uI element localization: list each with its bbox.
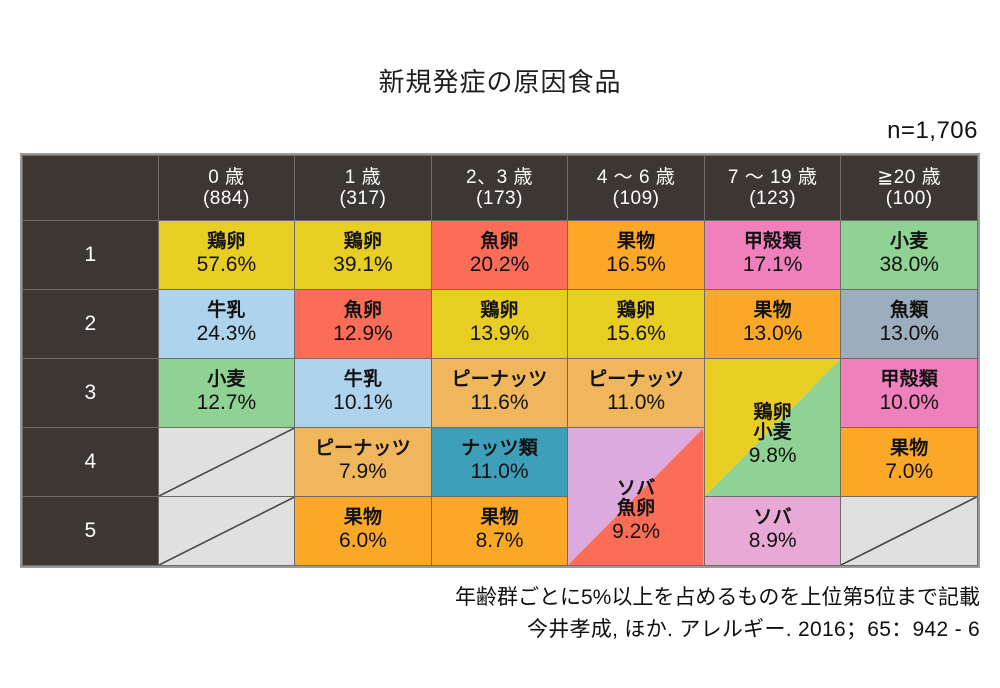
diagonal-strike-icon [159, 497, 295, 565]
cell-r2-age7-19: 果物 13.0% [704, 290, 841, 359]
causative-food-table: 0 歳 (884) 1 歳 (317) 2、3 歳 (173) 4 ～ 6 歳 … [22, 155, 978, 566]
cell-r2-age0: 牛乳 24.3% [158, 290, 295, 359]
cell-food: 果物 [705, 301, 841, 322]
cell-food: 甲殻類 [841, 370, 977, 391]
cell-r1-age0: 鶏卵 57.6% [158, 221, 295, 290]
cell-percent: 16.5% [568, 253, 704, 277]
cell-r2-age20plus: 魚類 13.0% [841, 290, 978, 359]
cell-r1-age2-3: 魚卵 20.2% [431, 221, 568, 290]
column-header-age20plus-line1: ≧20 歳 [841, 167, 977, 188]
cell-percent: 8.7% [432, 529, 568, 553]
cell-food: 果物 [841, 439, 977, 460]
cell-percent: 13.0% [705, 322, 841, 346]
cell-percent: 17.1% [705, 253, 841, 277]
cell-r1-age4-6: 果物 16.5% [568, 221, 705, 290]
cell-r4-age0-empty [158, 428, 295, 497]
table-header-row: 0 歳 (884) 1 歳 (317) 2、3 歳 (173) 4 ～ 6 歳 … [23, 156, 978, 221]
rank-label-1: 1 [23, 221, 159, 290]
cell-food: ピーナッツ [295, 439, 431, 460]
column-header-age20plus: ≧20 歳 (100) [841, 156, 978, 221]
cell-percent: 11.0% [432, 460, 568, 484]
cell-r2-age2-3: 鶏卵 13.9% [431, 290, 568, 359]
cell-percent: 39.1% [295, 253, 431, 277]
cell-merged-age4-6-rank4-5: ソバ 魚卵 9.2% [568, 428, 705, 566]
cell-percent: 7.0% [841, 460, 977, 484]
cell-percent: 11.0% [568, 391, 704, 415]
footnote-line-2: 今井孝成, ほか. アレルギー. 2016；65：942 - 6 [0, 614, 980, 646]
cell-r5-age2-3: 果物 8.7% [431, 497, 568, 566]
page-title: 新規発症の原因食品 [0, 0, 1000, 99]
cell-percent: 13.0% [841, 322, 977, 346]
cell-r5-age1: 果物 6.0% [295, 497, 432, 566]
cell-percent: 12.7% [159, 391, 295, 415]
rank-label-4: 4 [23, 428, 159, 497]
cell-r1-age1: 鶏卵 39.1% [295, 221, 432, 290]
cell-percent: 13.9% [432, 322, 568, 346]
table-row: 1 鶏卵 57.6% 鶏卵 39.1% 魚卵 20.2% [23, 221, 978, 290]
cell-r4-age20plus: 果物 7.0% [841, 428, 978, 497]
column-header-age4-6-line2: (109) [568, 188, 704, 209]
cell-food: 鶏卵 [159, 232, 295, 253]
data-table-container: 0 歳 (884) 1 歳 (317) 2、3 歳 (173) 4 ～ 6 歳 … [20, 153, 980, 568]
cell-percent: 38.0% [841, 253, 977, 277]
cell-percent: 10.0% [841, 391, 977, 415]
cell-percent: 9.8% [705, 444, 841, 468]
cell-food: 牛乳 [159, 301, 295, 322]
cell-food: ナッツ類 [432, 439, 568, 460]
column-header-age2-3-line2: (173) [432, 188, 568, 209]
sample-size-label: n=1,706 [0, 99, 1000, 145]
cell-food: 小麦 [159, 370, 295, 391]
cell-food: ソバ [705, 508, 841, 529]
diagonal-strike-icon [159, 428, 295, 496]
table-body: 0 歳 (884) 1 歳 (317) 2、3 歳 (173) 4 ～ 6 歳 … [23, 156, 978, 566]
column-header-age0: 0 歳 (884) [158, 156, 295, 221]
table-row: 3 小麦 12.7% 牛乳 10.1% ピーナッツ 11 [23, 359, 978, 428]
cell-r4-age2-3: ナッツ類 11.0% [431, 428, 568, 497]
cell-r3-age20plus: 甲殻類 10.0% [841, 359, 978, 428]
column-header-age2-3-line1: 2、3 歳 [432, 167, 568, 188]
cell-r3-age2-3: ピーナッツ 11.6% [431, 359, 568, 428]
cell-percent: 7.9% [295, 460, 431, 484]
cell-food: 小麦 [841, 232, 977, 253]
column-header-age1: 1 歳 (317) [295, 156, 432, 221]
cell-r3-age4-6: ピーナッツ 11.0% [568, 359, 705, 428]
cell-food: 鶏卵 [568, 301, 704, 322]
cell-r4-age1: ピーナッツ 7.9% [295, 428, 432, 497]
cell-food-line2: 魚卵 [568, 499, 704, 520]
cell-food: 魚類 [841, 301, 977, 322]
column-header-age4-6: 4 ～ 6 歳 (109) [568, 156, 705, 221]
cell-food-line2: 小麦 [705, 423, 841, 444]
cell-food: 鶏卵 [295, 232, 431, 253]
column-header-age20plus-line2: (100) [841, 188, 977, 209]
column-header-age7-19-line1: 7 ～ 19 歳 [705, 167, 841, 188]
cell-food: 甲殻類 [705, 232, 841, 253]
footnote: 年齢群ごとに5%以上を占めるものを上位第5位まで記載 今井孝成, ほか. アレル… [0, 582, 1000, 645]
cell-food: ピーナッツ [568, 370, 704, 391]
cell-r1-age20plus: 小麦 38.0% [841, 221, 978, 290]
cell-food: ピーナッツ [432, 370, 568, 391]
cell-percent: 6.0% [295, 529, 431, 553]
footnote-line-1: 年齢群ごとに5%以上を占めるものを上位第5位まで記載 [0, 582, 980, 614]
cell-food-line1: ソバ [568, 479, 704, 500]
cell-food: 果物 [568, 232, 704, 253]
cell-food: 牛乳 [295, 370, 431, 391]
rank-label-5: 5 [23, 497, 159, 566]
cell-percent: 11.6% [432, 391, 568, 415]
cell-r3-age0: 小麦 12.7% [158, 359, 295, 428]
cell-food: 魚卵 [432, 232, 568, 253]
cell-percent: 24.3% [159, 322, 295, 346]
cell-r5-age0-empty [158, 497, 295, 566]
cell-r2-age4-6: 鶏卵 15.6% [568, 290, 705, 359]
column-header-age7-19-line2: (123) [705, 188, 841, 209]
cell-r3-age1: 牛乳 10.1% [295, 359, 432, 428]
column-header-age0-line2: (884) [159, 188, 295, 209]
column-header-age1-line1: 1 歳 [295, 167, 431, 188]
table-row: 5 果物 6.0% 果物 [23, 497, 978, 566]
cell-r5-age7-19: ソバ 8.9% [704, 497, 841, 566]
rank-label-2: 2 [23, 290, 159, 359]
cell-percent: 9.2% [568, 520, 704, 544]
cell-food: 果物 [432, 508, 568, 529]
cell-food: 鶏卵 [432, 301, 568, 322]
cell-r5-age20plus-empty [841, 497, 978, 566]
cell-merged-age7-19-rank3-4: 鶏卵 小麦 9.8% [704, 359, 841, 497]
cell-food-line1: 鶏卵 [705, 403, 841, 424]
table-corner-cell [23, 156, 159, 221]
table-row: 2 牛乳 24.3% 魚卵 12.9% 鶏卵 13.9% [23, 290, 978, 359]
cell-food: 果物 [295, 508, 431, 529]
column-header-age1-line2: (317) [295, 188, 431, 209]
column-header-age4-6-line1: 4 ～ 6 歳 [568, 167, 704, 188]
column-header-age0-line1: 0 歳 [159, 167, 295, 188]
diagonal-strike-icon [841, 497, 977, 565]
cell-percent: 15.6% [568, 322, 704, 346]
column-header-age2-3: 2、3 歳 (173) [431, 156, 568, 221]
cell-percent: 57.6% [159, 253, 295, 277]
cell-percent: 20.2% [432, 253, 568, 277]
cell-r2-age1: 魚卵 12.9% [295, 290, 432, 359]
cell-percent: 12.9% [295, 322, 431, 346]
cell-percent: 10.1% [295, 391, 431, 415]
cell-food: 魚卵 [295, 301, 431, 322]
column-header-age7-19: 7 ～ 19 歳 (123) [704, 156, 841, 221]
cell-percent: 8.9% [705, 529, 841, 553]
cell-r1-age7-19: 甲殻類 17.1% [704, 221, 841, 290]
rank-label-3: 3 [23, 359, 159, 428]
